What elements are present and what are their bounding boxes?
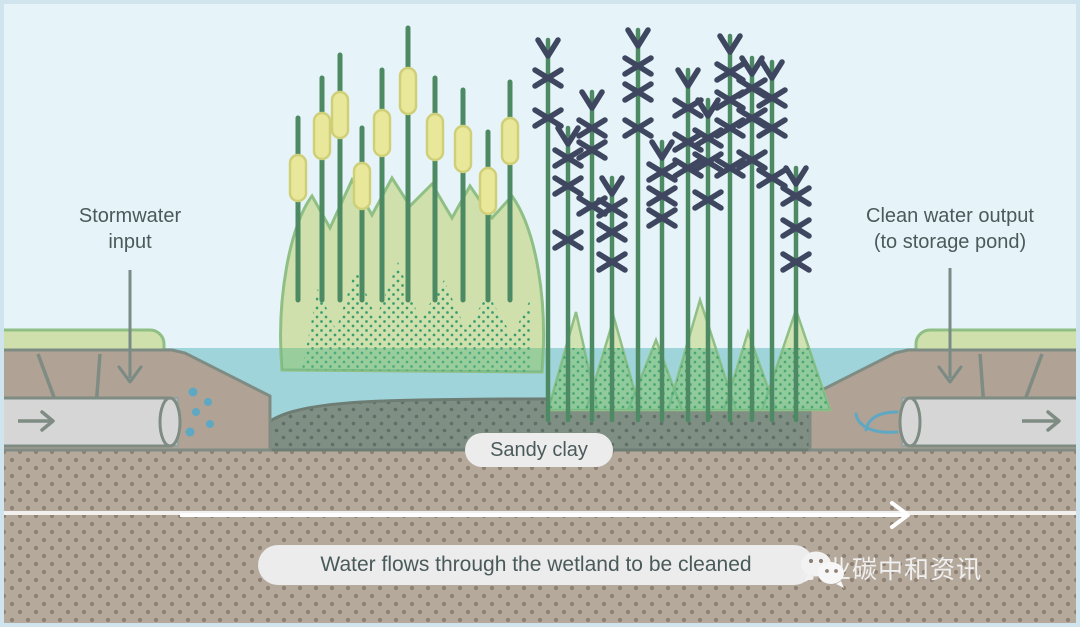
cattail-head [400,68,416,114]
cattail-head [314,113,330,159]
right-bank-green-cap [916,330,1080,350]
stormwater-input-label: Stormwater input [40,203,220,255]
cattail-head [480,168,496,214]
diagram-canvas [0,0,1080,627]
cattail-head [374,110,390,156]
wechat-icon [800,550,846,588]
cattail-head [332,92,348,138]
soil-layer [0,450,1080,627]
wetland-diagram: Stormwater input Clean water output (to … [0,0,1080,627]
watermark: 水业碳中和资讯 [800,550,982,586]
cattail-head [290,155,306,201]
right-pipe-opening [900,398,920,446]
left-bank-green-cap [0,330,164,350]
cattail-head [354,163,370,209]
cattail-head [502,118,518,164]
sandy-clay-label: Sandy clay [465,433,613,467]
water-flow-label: Water flows through the wetland to be cl… [258,545,814,585]
clean-water-output-label: Clean water output (to storage pond) [830,203,1070,255]
left-pipe-opening [160,398,180,446]
cattail-head [455,126,471,172]
cattail-head [427,114,443,160]
